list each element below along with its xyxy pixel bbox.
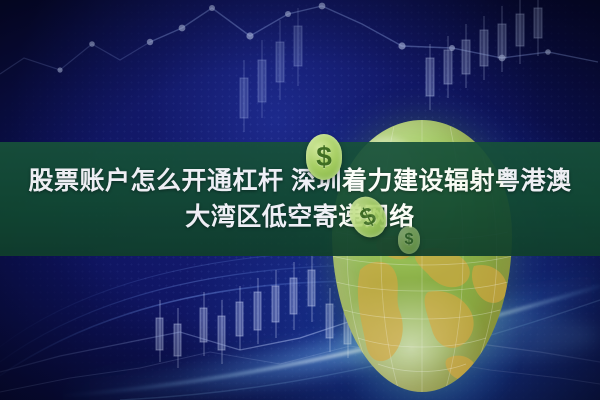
headline-text: 股票账户怎么开通杠杆 深圳着力建设辐射粤港澳 大湾区低空寄递网络 — [10, 163, 590, 235]
article-thumbnail-image: $ $ $ 股票账户怎么开通杠杆 深圳着力建设辐射粤港澳 大湾区低空寄递网络 — [0, 0, 600, 400]
dollar-coin-icon: $ — [306, 134, 342, 180]
dollar-coin-icon: $ — [398, 226, 420, 254]
headline-banner: 股票账户怎么开通杠杆 深圳着力建设辐射粤港澳 大湾区低空寄递网络 — [0, 142, 600, 256]
continent-shapes — [358, 236, 507, 381]
